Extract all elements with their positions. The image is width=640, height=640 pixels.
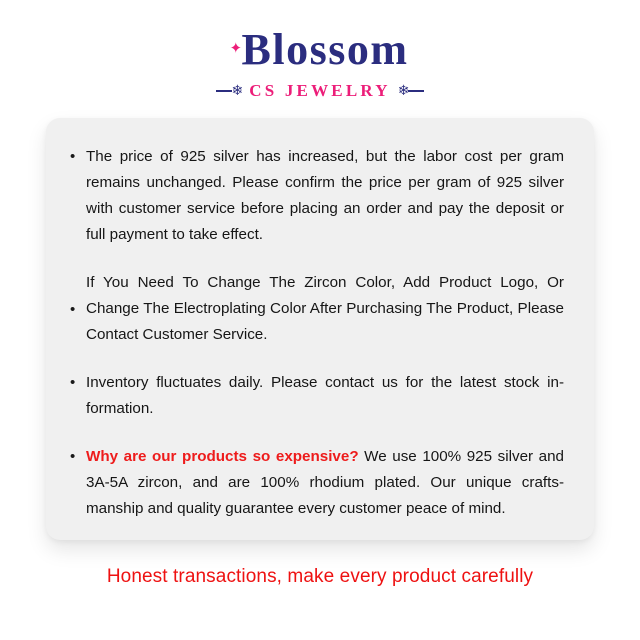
bullet-icon: •: [70, 302, 86, 317]
sparkle-icon: ✦: [230, 42, 243, 55]
notice-highlight-question: Why are our products so expensive?: [86, 448, 359, 465]
notice-card: • The price of 925 silver has increased,…: [46, 118, 594, 540]
brand-tagline-row: ❄ CS JEWELRY ❄: [0, 81, 640, 101]
brand-name-text: Blossom: [242, 25, 409, 74]
bullet-icon: •: [70, 144, 86, 170]
notice-text: Inventory fluctuates daily. Please conta…: [86, 370, 564, 422]
bullet-icon: •: [70, 444, 86, 470]
brand-logo-block: ✦ Blossom ❄ CS JEWELRY ❄: [0, 0, 640, 101]
flourish-right-icon: ❄: [398, 84, 425, 98]
brand-name: ✦ Blossom: [232, 28, 409, 72]
flourish-left-icon: ❄: [216, 84, 243, 98]
notice-item: • The price of 925 silver has increased,…: [70, 144, 564, 248]
notice-text: If You Need To Change The Zircon Color, …: [86, 270, 564, 348]
bullet-icon: •: [70, 370, 86, 396]
notice-text: Why are our products so expensive? We us…: [86, 444, 564, 522]
notice-item: • If You Need To Change The Zircon Color…: [70, 270, 564, 348]
footer-slogan: Honest transactions, make every product …: [0, 566, 640, 588]
notice-item: • Inventory fluctuates daily. Please con…: [70, 370, 564, 422]
brand-tagline: CS JEWELRY: [249, 81, 390, 101]
notice-text: The price of 925 silver has increased, b…: [86, 144, 564, 248]
notice-item-highlight: • Why are our products so expensive? We …: [70, 444, 564, 522]
